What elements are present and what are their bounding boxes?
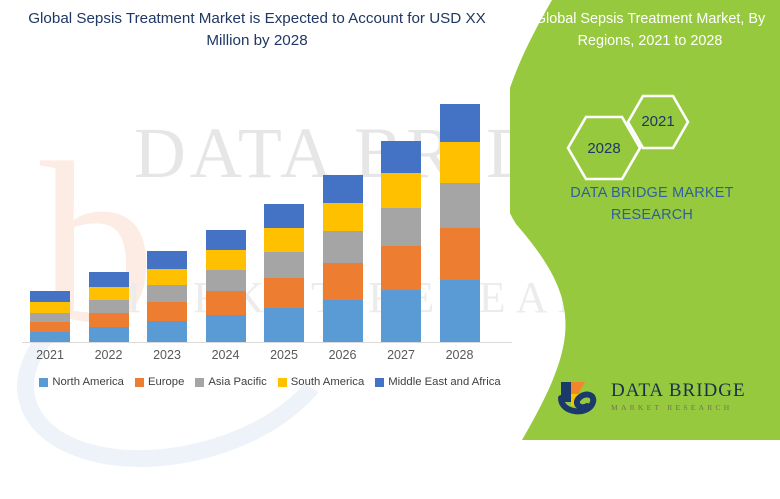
- bar-group-2022[interactable]: [89, 272, 129, 342]
- bar-group-2023[interactable]: [147, 251, 187, 342]
- hexagon-2028-label: 2028: [568, 140, 640, 157]
- x-axis-tick-2022: 2022: [79, 348, 139, 362]
- x-axis-line: [22, 342, 512, 343]
- bar-segment[interactable]: [440, 104, 480, 142]
- bar-segment[interactable]: [323, 231, 363, 263]
- bar-segment[interactable]: [323, 263, 363, 300]
- legend-swatch-icon: [39, 378, 48, 387]
- legend-item[interactable]: Middle East and Africa: [375, 376, 500, 388]
- legend-label: Europe: [148, 376, 184, 388]
- bar-segment[interactable]: [206, 291, 246, 315]
- bar-segment[interactable]: [381, 208, 421, 247]
- legend-label: Asia Pacific: [208, 376, 266, 388]
- bar-group-2021[interactable]: [30, 291, 70, 342]
- bar-segment[interactable]: [206, 230, 246, 251]
- chart-panel: Global Sepsis Treatment Market is Expect…: [0, 0, 540, 440]
- bar-segment[interactable]: [89, 300, 129, 313]
- green-panel: Global Sepsis Treatment Market, By Regio…: [510, 0, 780, 440]
- bar-segment[interactable]: [381, 173, 421, 208]
- bar-segment[interactable]: [147, 285, 187, 302]
- bar-segment[interactable]: [147, 251, 187, 269]
- bar-segment[interactable]: [206, 270, 246, 291]
- brand-text: DATA BRIDGE MARKET RESEARCH: [532, 182, 772, 227]
- bar-segment[interactable]: [30, 332, 70, 342]
- green-panel-title: Global Sepsis Treatment Market, By Regio…: [528, 9, 772, 52]
- bar-group-2025[interactable]: [264, 204, 304, 342]
- bar-segment[interactable]: [30, 302, 70, 313]
- bar-segment[interactable]: [440, 228, 480, 280]
- data-bridge-logo: DATA BRIDGE MARKET RESEARCH: [555, 378, 775, 422]
- x-axis-tick-2025: 2025: [254, 348, 314, 362]
- legend-item[interactable]: Europe: [135, 376, 184, 388]
- bar-segment[interactable]: [264, 228, 304, 252]
- hexagon-2021-label: 2021: [628, 113, 688, 130]
- bar-segment[interactable]: [30, 322, 70, 332]
- bar-segment[interactable]: [206, 315, 246, 342]
- chart-legend: North AmericaEuropeAsia PacificSouth Ame…: [0, 376, 540, 388]
- legend-label: North America: [52, 376, 124, 388]
- bar-segment[interactable]: [264, 204, 304, 229]
- bar-group-2027[interactable]: [381, 141, 421, 342]
- legend-swatch-icon: [195, 378, 204, 387]
- bar-segment[interactable]: [381, 141, 421, 173]
- bar-segment[interactable]: [440, 280, 480, 342]
- legend-swatch-icon: [135, 378, 144, 387]
- x-axis-tick-2024: 2024: [196, 348, 256, 362]
- bar-segment[interactable]: [323, 175, 363, 203]
- bar-segment[interactable]: [30, 313, 70, 322]
- x-axis-tick-2028: 2028: [430, 348, 490, 362]
- chart-title: Global Sepsis Treatment Market is Expect…: [22, 8, 492, 52]
- bar-segment[interactable]: [89, 313, 129, 327]
- bar-segment[interactable]: [206, 250, 246, 270]
- bar-segment[interactable]: [89, 287, 129, 300]
- bar-group-2024[interactable]: [206, 230, 246, 343]
- logo-tagline: MARKET RESEARCH: [611, 403, 746, 412]
- bar-segment[interactable]: [147, 269, 187, 285]
- legend-swatch-icon: [375, 378, 384, 387]
- bar-segment[interactable]: [89, 272, 129, 287]
- legend-swatch-icon: [278, 378, 287, 387]
- bar-group-2028[interactable]: [440, 104, 480, 342]
- x-axis-tick-2026: 2026: [313, 348, 373, 362]
- bar-segment[interactable]: [89, 327, 129, 342]
- legend-item[interactable]: South America: [278, 376, 364, 388]
- logo-text: DATA BRIDGE MARKET RESEARCH: [611, 380, 746, 412]
- logo-mark-icon: [555, 380, 603, 422]
- bar-segment[interactable]: [381, 246, 421, 290]
- bar-segment[interactable]: [147, 302, 187, 321]
- x-axis-tick-2021: 2021: [20, 348, 80, 362]
- bar-segment[interactable]: [264, 308, 304, 342]
- x-axis-labels: 20212022202320242025202620272028: [0, 348, 530, 370]
- bar-segment[interactable]: [323, 203, 363, 232]
- x-axis-tick-2023: 2023: [137, 348, 197, 362]
- legend-label: Middle East and Africa: [388, 376, 500, 388]
- legend-item[interactable]: Asia Pacific: [195, 376, 266, 388]
- legend-label: South America: [291, 376, 364, 388]
- bar-segment[interactable]: [264, 278, 304, 308]
- bar-segment[interactable]: [440, 142, 480, 183]
- logo-name: DATA BRIDGE: [611, 380, 746, 402]
- bar-segment[interactable]: [147, 321, 187, 342]
- bar-segment[interactable]: [381, 290, 421, 342]
- bar-segment[interactable]: [30, 291, 70, 302]
- bar-segment[interactable]: [323, 300, 363, 342]
- bar-group-2026[interactable]: [323, 175, 363, 342]
- legend-item[interactable]: North America: [39, 376, 124, 388]
- bar-segment[interactable]: [264, 252, 304, 278]
- x-axis-tick-2027: 2027: [371, 348, 431, 362]
- plot-area: [0, 96, 530, 343]
- bar-segment[interactable]: [440, 183, 480, 229]
